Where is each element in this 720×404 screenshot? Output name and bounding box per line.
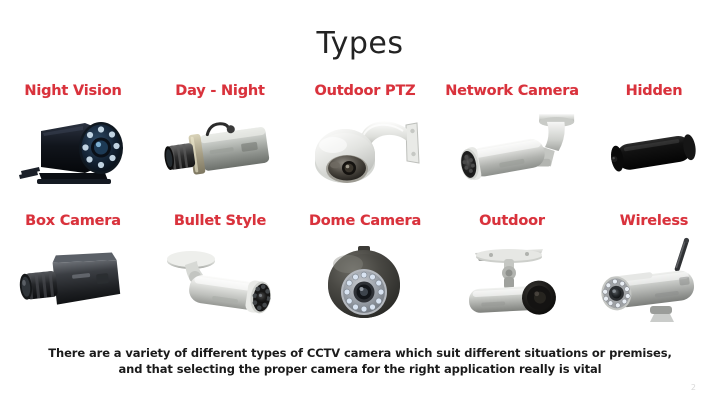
camera-type-label: Night Vision — [24, 82, 121, 100]
camera-type-label: Hidden — [626, 82, 683, 100]
camera-type-dome-camera[interactable]: Dome Camera — [294, 212, 436, 328]
camera-type-label: Box Camera — [25, 212, 121, 230]
outdoor-ceiling-camera-icon — [446, 236, 578, 328]
camera-type-night-vision[interactable]: Night Vision — [0, 82, 146, 198]
slide-types-of-cctv-cameras: Types Night Vision — [0, 0, 720, 404]
camera-type-label: Outdoor — [479, 212, 545, 230]
camera-type-outdoor-ptz[interactable]: Outdoor PTZ — [294, 82, 436, 198]
camera-type-outdoor[interactable]: Outdoor — [436, 212, 588, 328]
camera-type-network-camera[interactable]: Network Camera — [436, 82, 588, 198]
caption-line-2: and that selecting the proper camera for… — [0, 361, 720, 377]
camera-type-wireless[interactable]: Wireless — [588, 212, 720, 328]
wireless-antenna-camera-icon — [588, 236, 720, 328]
camera-type-label: Day - Night — [175, 82, 264, 100]
camera-type-row-2: Box Camera — [0, 212, 720, 328]
outdoor-ptz-dome-camera-icon — [299, 106, 431, 198]
camera-type-hidden[interactable]: Hidden — [588, 82, 720, 198]
bullet-style-camera-icon — [154, 236, 286, 328]
camera-type-bullet-style[interactable]: Bullet Style — [146, 212, 294, 328]
camera-type-day-night[interactable]: Day - Night — [146, 82, 294, 198]
camera-type-row-1: Night Vision — [0, 82, 720, 198]
page-number: 2 — [691, 383, 696, 392]
box-camera-icon — [7, 236, 139, 328]
camera-type-label: Network Camera — [445, 82, 579, 100]
camera-type-label: Wireless — [620, 212, 688, 230]
camera-type-label: Outdoor PTZ — [315, 82, 416, 100]
camera-type-box-camera[interactable]: Box Camera — [0, 212, 146, 328]
slide-caption: There are a variety of different types o… — [0, 345, 720, 377]
page-title: Types — [0, 26, 720, 61]
dome-camera-icon — [299, 236, 431, 328]
camera-type-label: Dome Camera — [309, 212, 421, 230]
day-night-box-camera-icon — [154, 106, 286, 198]
network-bullet-camera-icon — [446, 106, 578, 198]
camera-type-label: Bullet Style — [174, 212, 266, 230]
night-vision-camera-icon — [7, 106, 139, 198]
hidden-cylinder-camera-icon — [588, 106, 720, 198]
caption-line-1: There are a variety of different types o… — [48, 346, 671, 360]
